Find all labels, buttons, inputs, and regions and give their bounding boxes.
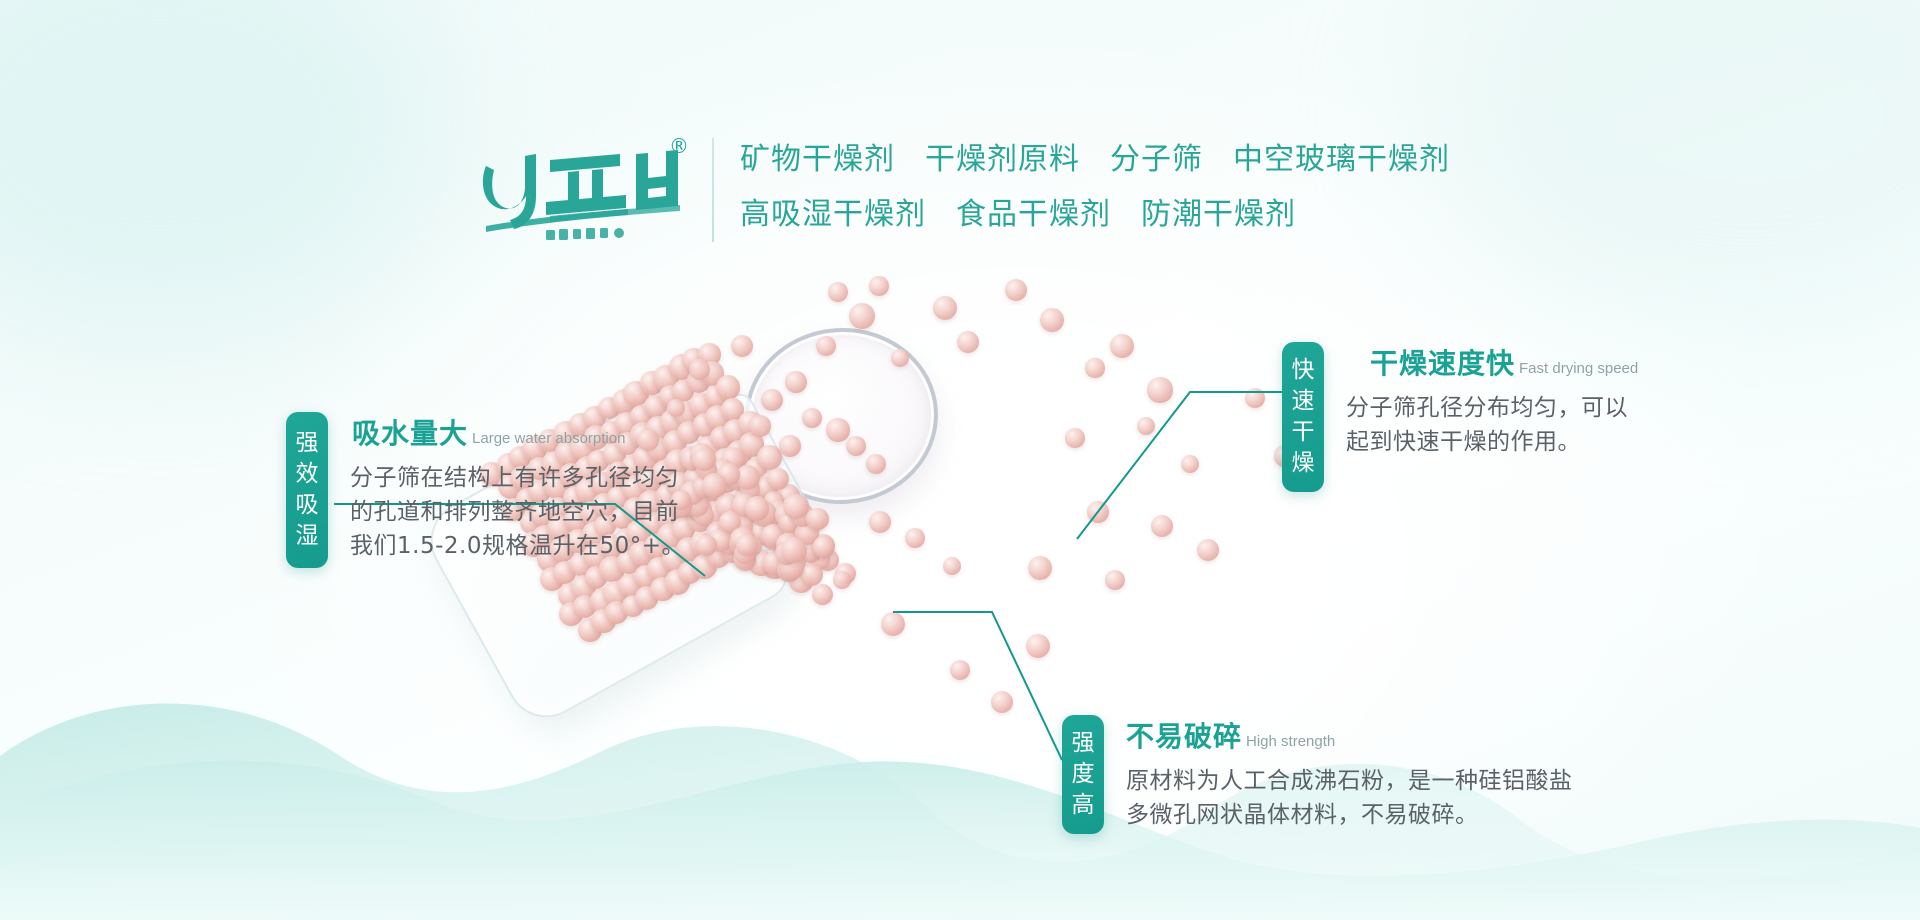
bead [1085, 358, 1104, 377]
bead [779, 435, 801, 457]
badge-char: 快 [1282, 355, 1324, 386]
badge-char: 速 [1282, 386, 1324, 417]
callout-heading: 干燥速度快 Fast drying speed [1346, 342, 1638, 382]
bead [826, 418, 849, 441]
bead [1005, 279, 1028, 302]
keyword-row-2: 高吸湿干燥剂 食品干燥剂 防潮干燥剂 [740, 187, 1530, 242]
bead [1026, 634, 1050, 658]
callout-heading: 吸水量大 Large water absorption [350, 412, 685, 452]
callout-text: 吸水量大 Large water absorption 分子筛在结构上有许多孔径… [350, 412, 685, 563]
keyword-molecular-sieve[interactable]: 分子筛 [1110, 132, 1203, 187]
bead [767, 468, 789, 490]
bead [1147, 377, 1172, 402]
callout-text: 不易破碎 High strength 原材料为人工合成沸石粉，是一种硅铝酸盐 多… [1126, 715, 1573, 832]
bead [1105, 570, 1126, 591]
bead [812, 584, 833, 605]
callout-title: 干燥速度快 [1370, 342, 1515, 382]
badge-fast-drying: 快 速 干 燥 [1282, 342, 1324, 492]
keyword-list: 矿物干燥剂 干燥剂原料 分子筛 中空玻璃干燥剂 高吸湿干燥剂 食品干燥剂 防潮干… [740, 132, 1530, 242]
header-divider [712, 138, 714, 242]
bead [943, 557, 962, 576]
bead [869, 276, 888, 295]
logo-mark [480, 134, 695, 246]
bead [869, 511, 891, 533]
callout-body: 分子筛孔径分布均匀，可以 起到快速干燥的作用。 [1346, 391, 1638, 459]
bead [785, 371, 806, 392]
bead [1040, 308, 1064, 332]
bead [1137, 417, 1156, 436]
bead [849, 303, 875, 329]
bead [1028, 556, 1052, 580]
bead [1065, 428, 1084, 447]
callout-subtitle: Fast drying speed [1519, 360, 1638, 377]
badge-char: 湿 [286, 521, 328, 552]
callout-high-strength: 强 度 高 不易破碎 High strength 原材料为人工合成沸石粉，是一种… [1062, 715, 1573, 834]
bead [813, 536, 835, 558]
bead [905, 528, 925, 548]
bead [749, 415, 770, 436]
bead [1087, 501, 1108, 522]
keyword-row-1: 矿物干燥剂 干燥剂原料 分子筛 中空玻璃干燥剂 [740, 132, 1530, 187]
keyword-moisture-proof-desiccant[interactable]: 防潮干燥剂 [1141, 187, 1296, 242]
callout-subtitle: High strength [1246, 733, 1335, 750]
wave-decoration [0, 660, 1920, 920]
callout-body: 分子筛在结构上有许多孔径均匀 的孔道和排列整齐地空穴，目前 我们1.5-2.0规… [350, 461, 685, 563]
badge-char: 强 [286, 428, 328, 459]
bead [1181, 455, 1200, 474]
bead [806, 508, 828, 530]
callout-large-water-absorption: 强 效 吸 湿 吸水量大 Large water absorption 分子筛在… [286, 412, 685, 568]
keyword-insulating-glass-desiccant[interactable]: 中空玻璃干燥剂 [1233, 132, 1450, 187]
badge-char: 干 [1282, 417, 1324, 448]
bead [866, 454, 886, 474]
bead [1197, 539, 1220, 562]
keyword-mineral-desiccant[interactable]: 矿物干燥剂 [740, 132, 895, 187]
bead [833, 571, 851, 589]
brand-logo[interactable]: ® [480, 134, 695, 246]
bead [828, 282, 849, 303]
bead [757, 445, 782, 470]
callout-title: 吸水量大 [352, 412, 468, 452]
bead [1245, 388, 1265, 408]
badge-char: 吸 [286, 490, 328, 521]
badge-strong-moisture-absorption: 强 效 吸 湿 [286, 412, 328, 568]
badge-high-strength: 强 度 高 [1062, 715, 1104, 834]
bead [933, 296, 957, 320]
bead [696, 535, 717, 556]
bead [731, 335, 754, 358]
callout-heading: 不易破碎 High strength [1126, 715, 1573, 755]
badge-char: 燥 [1282, 448, 1324, 479]
callout-body: 原材料为人工合成沸石粉，是一种硅铝酸盐 多微孔网状晶体材料，不易破碎。 [1126, 764, 1573, 832]
promo-banner: ® 矿物干燥剂 干燥剂原料 分子筛 中空玻璃干燥剂 高吸湿干燥剂 食品干燥剂 防… [0, 0, 1920, 920]
bead [1110, 334, 1134, 358]
callout-fast-drying-speed: 快 速 干 燥 干燥速度快 Fast drying speed 分子筛孔径分布均… [1282, 342, 1638, 492]
bead [692, 448, 716, 472]
bead [716, 375, 741, 400]
bead [881, 612, 906, 637]
keyword-high-moisture-desiccant[interactable]: 高吸湿干燥剂 [740, 187, 926, 242]
badge-char: 度 [1062, 759, 1104, 790]
keyword-desiccant-material[interactable]: 干燥剂原料 [925, 132, 1080, 187]
keyword-food-desiccant[interactable]: 食品干燥剂 [956, 187, 1111, 242]
callout-title: 不易破碎 [1126, 715, 1242, 755]
header: ® 矿物干燥剂 干燥剂原料 分子筛 中空玻璃干燥剂 高吸湿干燥剂 食品干燥剂 防… [0, 130, 1920, 250]
callout-text: 干燥速度快 Fast drying speed 分子筛孔径分布均匀，可以 起到快… [1346, 342, 1638, 459]
bead [781, 537, 806, 562]
callout-subtitle: Large water absorption [472, 430, 625, 447]
badge-char: 高 [1062, 790, 1104, 821]
badge-char: 强 [1062, 728, 1104, 759]
bead [957, 331, 979, 353]
badge-char: 效 [286, 459, 328, 490]
bead [1151, 515, 1173, 537]
registered-trademark-icon: ® [669, 136, 689, 156]
